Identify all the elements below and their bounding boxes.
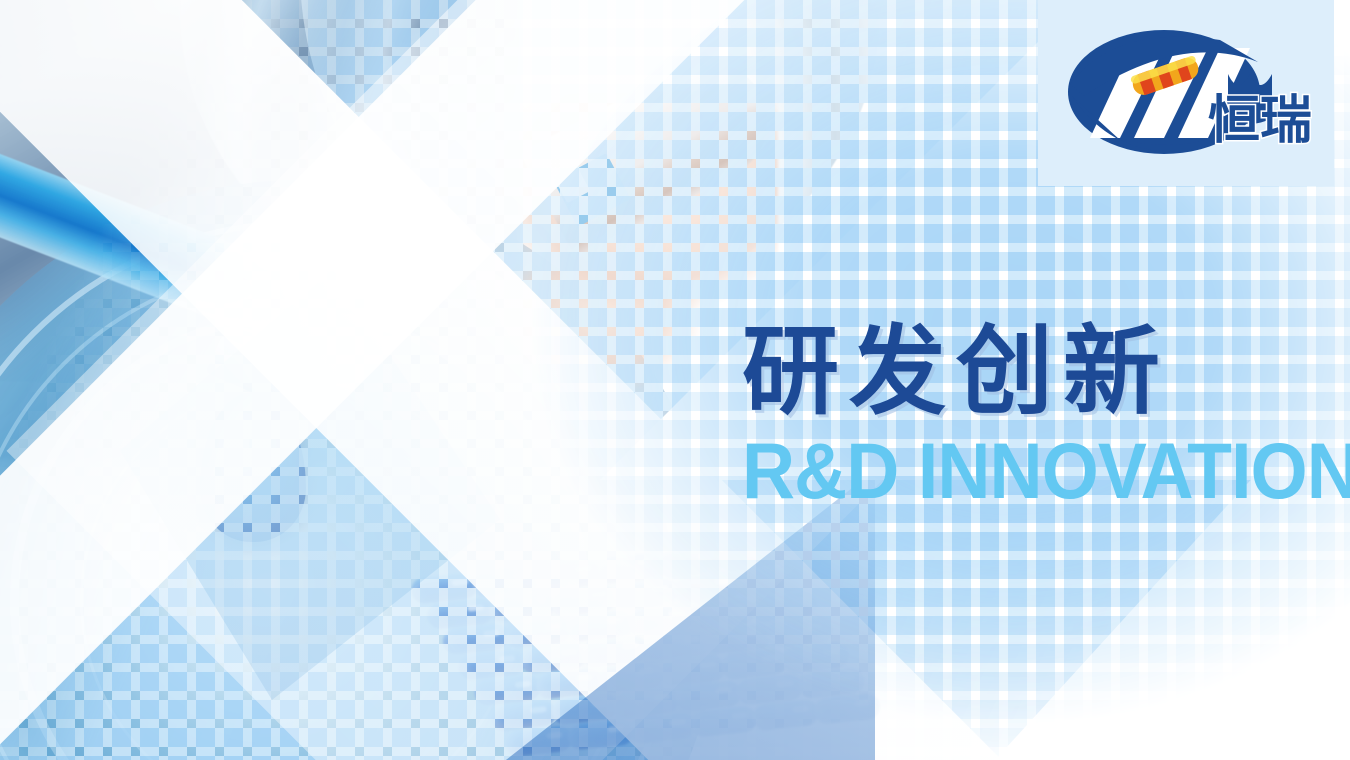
hengrui-logo[interactable]: 恒瑞 [1060, 18, 1328, 170]
logo-wordmark: 恒瑞 [1208, 91, 1312, 151]
headline-english: R&D INNOVATION [742, 433, 1300, 508]
rnd-innovation-banner: 恒瑞 研发创新 R&D INNOVATION [0, 0, 1350, 760]
hengrui-logo-mark: 恒瑞 [1060, 18, 1328, 170]
headline-block: 研发创新 R&D INNOVATION [742, 320, 1342, 508]
headline-chinese: 研发创新 [742, 320, 1342, 425]
